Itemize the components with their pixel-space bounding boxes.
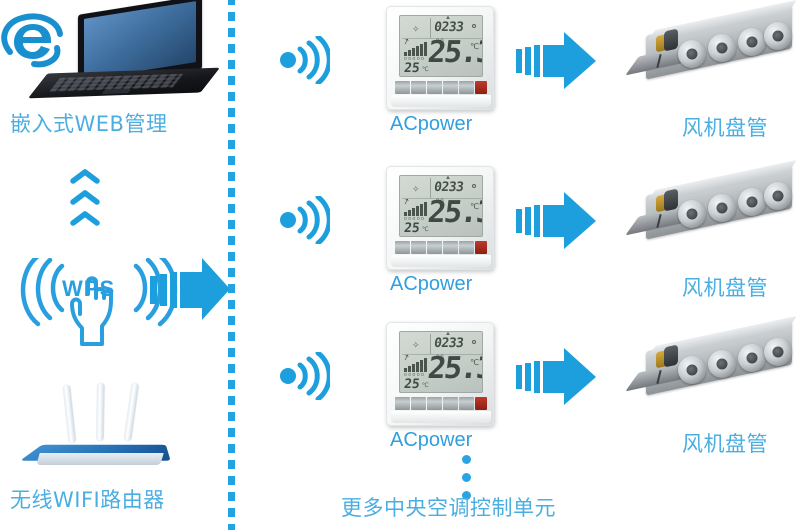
laptop-touchpad [101, 89, 131, 94]
router-label: 无线WIFI路由器 [10, 484, 165, 514]
wifi-router-illustration [24, 385, 184, 480]
fcu-blower-drum [708, 194, 736, 222]
thermostat-lcd: ▲ ✧ 0233 ↗ on 25.3 ℃ ооооо 25 ℃ [399, 175, 483, 237]
thermostat-bottom-lip [391, 255, 491, 267]
lcd-setpoint-unit: ℃ [422, 226, 429, 233]
thermostat-button-row[interactable] [395, 397, 487, 410]
fcu-blower-drum [708, 34, 736, 62]
thermostat-button[interactable] [427, 241, 442, 254]
lcd-time-dot-icon [472, 340, 476, 344]
block-arrow-right-icon [516, 32, 596, 90]
thermostat-lcd: ▲ ✧ 0233 ↗ on 25.3 ℃ ооооо 25 ℃ [399, 15, 483, 77]
thermostat-button[interactable] [395, 397, 410, 410]
lcd-sun-icon: ✧ [412, 24, 420, 35]
thermostat-device[interactable]: ▲ ✧ 0233 ↗ on 25.3 ℃ ооооо 25 ℃ [386, 322, 494, 426]
thermostat-lcd: ▲ ✧ 0233 ↗ on 25.3 ℃ ооооо 25 ℃ [399, 331, 483, 393]
lcd-setpoint: 25 [403, 61, 420, 76]
fcu-blower-drum [764, 22, 792, 50]
thermostat-button[interactable] [443, 397, 458, 410]
thermostat-button[interactable] [443, 241, 458, 254]
fcu-blower-drum [738, 344, 766, 372]
chevron-up-icon [70, 210, 100, 226]
thermostat-power-button[interactable] [475, 397, 487, 410]
thermostat-button[interactable] [395, 241, 410, 254]
thermostat-button[interactable] [395, 81, 410, 94]
lcd-setpoint: 25 [403, 377, 420, 392]
thermostat-button[interactable] [411, 397, 426, 410]
lcd-temperature-unit: ℃ [470, 202, 479, 211]
lcd-time: 0233 [433, 336, 464, 351]
lcd-sun-icon: ✧ [412, 340, 420, 351]
lcd-temperature-unit: ℃ [470, 358, 479, 367]
fcu-blower-drum [678, 200, 706, 228]
lcd-time-dot-icon [472, 184, 476, 188]
wifi-signal-icon [276, 196, 330, 244]
lcd-fan-bars [404, 42, 428, 56]
uplink-chevrons [70, 168, 114, 230]
fcu-blower-drum [764, 182, 792, 210]
wifi-signal-icon [276, 352, 330, 400]
fan-coil-unit-illustration [630, 324, 800, 412]
fcu-blower-drum [678, 356, 706, 384]
router-antenna [124, 383, 139, 441]
router-base-shell [36, 453, 163, 465]
lcd-setpoint-unit: ℃ [422, 382, 429, 389]
fan-coil-label: 风机盘管 [682, 112, 768, 142]
fan-coil-unit-illustration [630, 168, 800, 256]
fcu-blower-drum [738, 28, 766, 56]
diagram-canvas: 嵌入式WEB管理 [0, 0, 800, 530]
router-antenna [63, 385, 76, 443]
block-arrow-right-icon [516, 192, 596, 250]
thermostat-bottom-lip [391, 95, 491, 107]
fcu-blower-drum [738, 188, 766, 216]
internet-explorer-logo [0, 8, 66, 72]
thermostat-label: ACpower [390, 113, 472, 136]
fcu-blower-drum [764, 338, 792, 366]
fcu-blower-drum [708, 350, 736, 378]
lcd-time: 0233 [433, 180, 464, 195]
thermostat-label: ACpower [390, 429, 472, 452]
thermostat-device[interactable]: ▲ ✧ 0233 ↗ on 25.3 ℃ ооооо 25 ℃ [386, 166, 494, 270]
fan-coil-label: 风机盘管 [682, 272, 768, 302]
thermostat-button-row[interactable] [395, 81, 487, 94]
lcd-temperature-unit: ℃ [470, 42, 479, 51]
fan-coil-label: 风机盘管 [682, 428, 768, 458]
thermostat-button[interactable] [427, 81, 442, 94]
lcd-setpoint: 25 [403, 221, 420, 236]
chevron-up-icon [70, 189, 100, 205]
router-antenna [96, 383, 104, 441]
thermostat-button[interactable] [443, 81, 458, 94]
fcu-motor-housing [664, 189, 678, 212]
thermostat-device[interactable]: ▲ ✧ 0233 ↗ on 25.3 ℃ ооооо 25 ℃ [386, 6, 494, 110]
thermostat-button[interactable] [459, 397, 474, 410]
thermostat-power-button[interactable] [475, 81, 487, 94]
laptop-label: 嵌入式WEB管理 [10, 108, 167, 138]
lcd-setpoint-unit: ℃ [422, 66, 429, 73]
wifi-signal-icon [276, 36, 330, 84]
fcu-motor-housing [664, 345, 678, 368]
thermostat-button[interactable] [411, 241, 426, 254]
fan-coil-unit-illustration [630, 8, 800, 96]
thermostat-button-row[interactable] [395, 241, 487, 254]
lcd-time: 0233 [433, 20, 464, 35]
thermostat-power-button[interactable] [475, 241, 487, 254]
lcd-sun-icon: ✧ [412, 184, 420, 195]
thermostat-button[interactable] [427, 397, 442, 410]
wps-label: WPS [62, 276, 115, 302]
block-arrow-right-icon [516, 348, 596, 406]
lcd-fan-bars [404, 202, 428, 216]
more-units-label: 更多中央空调控制单元 [341, 492, 556, 522]
lcd-time-dot-icon [472, 24, 476, 28]
chevron-up-icon [70, 168, 100, 184]
thermostat-label: ACpower [390, 273, 472, 296]
block-arrow-right-icon [150, 258, 230, 322]
thermostat-bottom-lip [391, 411, 491, 423]
fcu-blower-drum [678, 40, 706, 68]
lcd-fan-bars [404, 358, 428, 372]
thermostat-button[interactable] [411, 81, 426, 94]
laptop-base [28, 68, 220, 99]
thermostat-button[interactable] [459, 241, 474, 254]
thermostat-button[interactable] [459, 81, 474, 94]
fcu-motor-housing [664, 29, 678, 52]
